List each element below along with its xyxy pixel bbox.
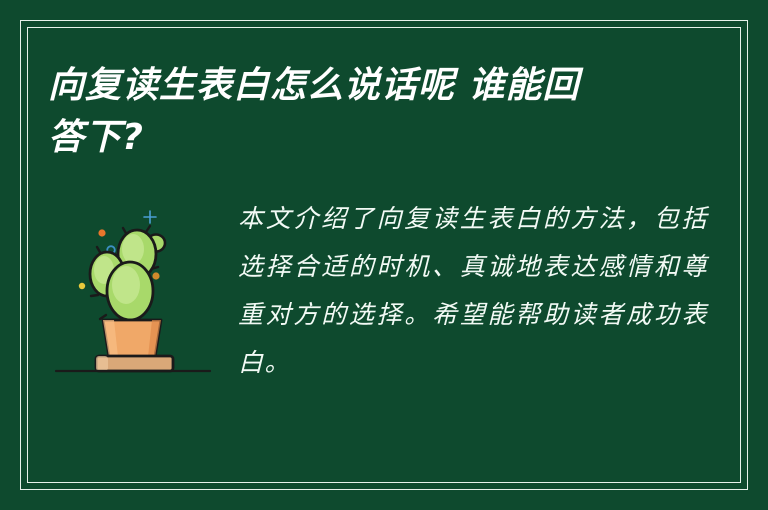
page-title: 向复读生表白怎么说话呢 谁能回 答下?: [48, 60, 688, 164]
yellow-dot-icon: [79, 283, 85, 289]
page-title-line-2: 答下?: [48, 112, 688, 164]
body-paragraph: 本文介绍了向复读生表白的方法，包括选择合适的时机、真诚地表达感情和尊重对方的选择…: [238, 195, 720, 387]
orange-dot-icon: [98, 229, 105, 236]
potted-cactus-illustration: [48, 199, 218, 379]
page-title-line-1: 向复读生表白怎么说话呢 谁能回: [48, 60, 688, 112]
content-row: 本文介绍了向复读生表白的方法，包括选择合适的时机、真诚地表达感情和尊重对方的选择…: [48, 195, 720, 465]
amber-dot-icon: [152, 272, 159, 279]
blue-plus-sparkle-icon: [144, 211, 156, 223]
poster-card: 向复读生表白怎么说话呢 谁能回 答下?: [0, 0, 768, 510]
